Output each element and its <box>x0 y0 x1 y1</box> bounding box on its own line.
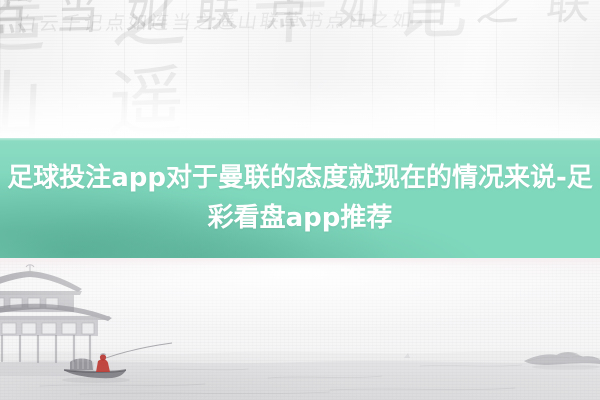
calligraphy-backdrop: 遥 之 千 记 山 遥 点 当 如 联 点 如 当 之 联 白云千记点如连当之遥… <box>0 0 600 140</box>
ink-wash-landscape <box>0 258 600 400</box>
cover-image-canvas: 遥 之 千 记 山 遥 点 当 如 联 点 如 当 之 联 白云千记点如连当之遥… <box>0 0 600 400</box>
page-title-line-2: 彩看盘app推荐 <box>208 198 393 238</box>
page-title: 足球投注app对于曼联的态度就现在的情况来说-足 彩看盘app推荐 <box>0 138 600 258</box>
landscape-top-edge <box>0 258 600 266</box>
page-title-line-1: 足球投注app对于曼联的态度就现在的情况来说-足 <box>7 158 593 198</box>
landscape-mist-wash <box>0 258 600 400</box>
paper-white-wash <box>0 0 600 140</box>
title-banner: 足球投注app对于曼联的态度就现在的情况来说-足 彩看盘app推荐 <box>0 138 600 258</box>
